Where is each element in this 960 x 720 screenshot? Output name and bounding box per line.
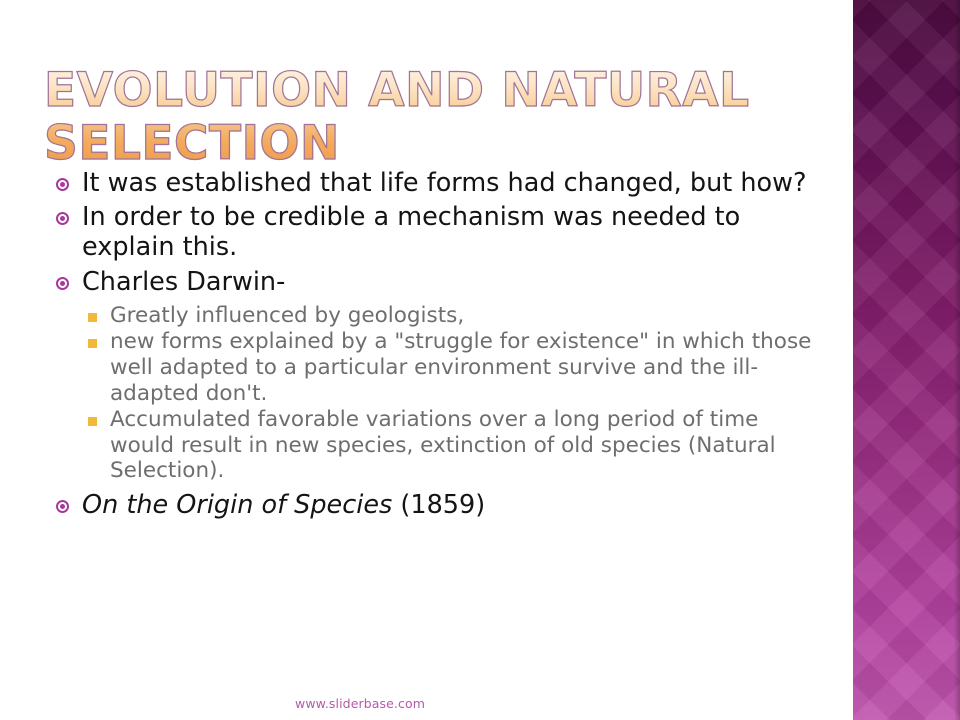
bullet-item-4: On the Origin of Species (1859) bbox=[52, 490, 812, 520]
bullet-list: It was established that life forms had c… bbox=[52, 168, 812, 520]
diamond-pattern-overlay bbox=[853, 0, 960, 720]
slide-title: Evolution and Natural Selection bbox=[44, 65, 804, 170]
presentation-slide: Evolution and Natural Selection It was e… bbox=[0, 0, 960, 720]
decorative-side-panel bbox=[853, 0, 960, 720]
book-title-text: On the Origin of Species bbox=[82, 490, 392, 520]
square-bullet-icon bbox=[88, 339, 97, 348]
sub-bullet-item-3: Accumulated favorable variations over a … bbox=[82, 407, 812, 484]
ring-dot-bullet-icon bbox=[56, 212, 69, 225]
footer-watermark: www.sliderbase.com bbox=[295, 696, 425, 711]
bullet-text: In order to be credible a mechanism was … bbox=[82, 202, 740, 262]
bullet-item-3: Charles Darwin- Greatly influenced by ge… bbox=[52, 267, 812, 484]
square-bullet-icon bbox=[88, 417, 97, 426]
book-year-text: (1859) bbox=[392, 490, 485, 520]
sub-bullet-text: new forms explained by a "struggle for e… bbox=[110, 329, 811, 405]
ring-dot-bullet-icon bbox=[56, 178, 69, 191]
square-bullet-icon bbox=[88, 313, 97, 322]
bullet-text: Charles Darwin- bbox=[82, 267, 285, 297]
slide-body: It was established that life forms had c… bbox=[52, 168, 812, 524]
sub-bullet-item-2: new forms explained by a "struggle for e… bbox=[82, 329, 812, 406]
sub-bullet-text: Accumulated favorable variations over a … bbox=[110, 407, 776, 483]
sub-bullet-item-1: Greatly influenced by geologists, bbox=[82, 303, 812, 329]
bullet-item-2: In order to be credible a mechanism was … bbox=[52, 202, 812, 262]
panel-edge-shadow bbox=[954, 0, 960, 720]
bullet-text: It was established that life forms had c… bbox=[82, 168, 806, 198]
sub-bullet-text: Greatly influenced by geologists, bbox=[110, 303, 464, 328]
bullet-item-1: It was established that life forms had c… bbox=[52, 168, 812, 198]
ring-dot-bullet-icon bbox=[56, 500, 69, 513]
ring-dot-bullet-icon bbox=[56, 277, 69, 290]
sub-bullet-list: Greatly influenced by geologists, new fo… bbox=[82, 303, 812, 484]
